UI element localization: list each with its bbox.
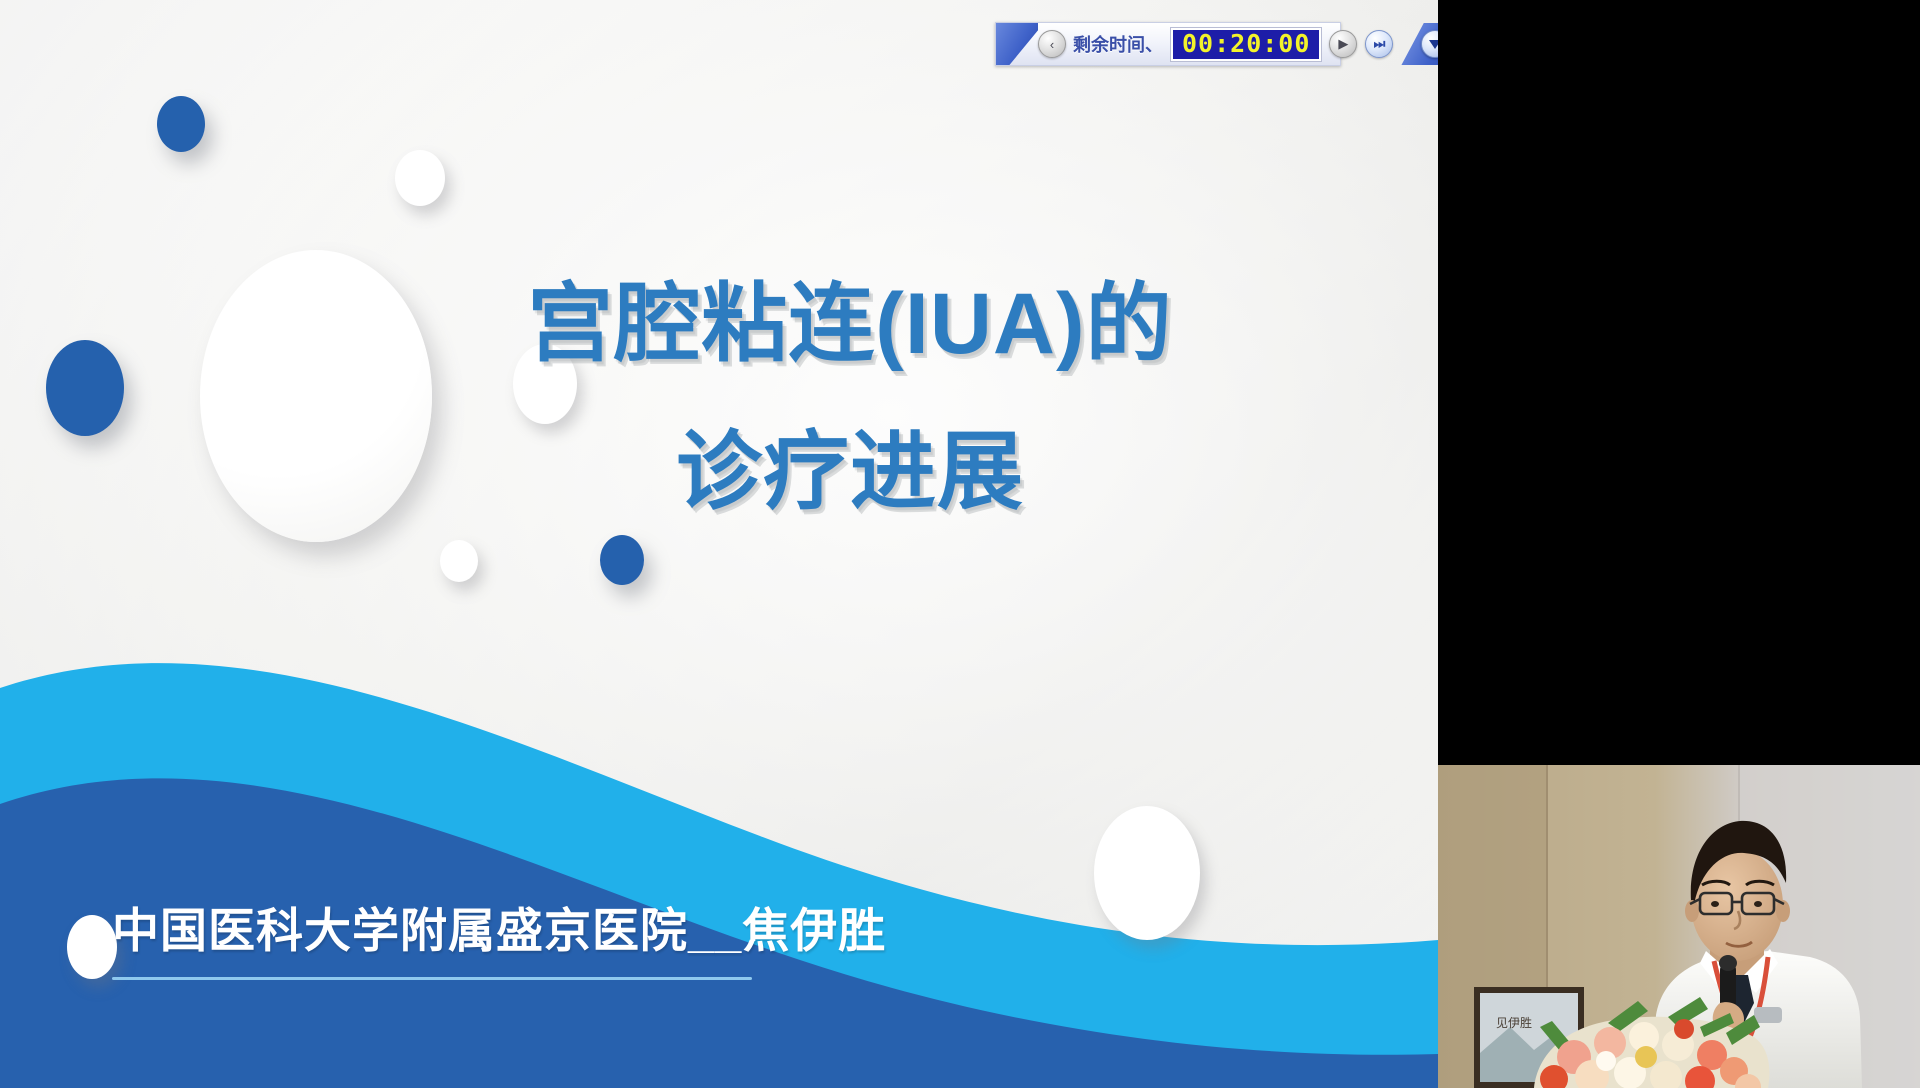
- decorative-bubble-white-a: [395, 150, 445, 206]
- toolbar-right-wedge-decoration: [1401, 23, 1438, 65]
- presenter-block: 中国医科大学附属盛京医院__焦伊胜: [112, 892, 872, 980]
- presenter-underline: [112, 977, 752, 980]
- presentation-slide[interactable]: 宫腔粘连(IUA)的 诊疗进展 中国医科大学附属盛京医院__焦伊胜 ‹ 剩余时间…: [0, 0, 1438, 1088]
- decorative-bubble-blue-top: [157, 96, 205, 152]
- skip-to-end-icon[interactable]: ⏭: [1365, 30, 1393, 58]
- wave-decoration: [0, 568, 1438, 1088]
- countdown-timer-toolbar[interactable]: ‹ 剩余时间、 00:20:00 ▶ ⏭: [995, 22, 1341, 66]
- timer-transport-controls: ▶ ⏭: [1321, 30, 1401, 58]
- decorative-bubble-white-wave: [1094, 806, 1200, 940]
- empty-black-panel: [1438, 0, 1920, 765]
- back-icon[interactable]: ‹: [1038, 30, 1066, 58]
- screen-root: 宫腔粘连(IUA)的 诊疗进展 中国医科大学附属盛京医院__焦伊胜 ‹ 剩余时间…: [0, 0, 1920, 1088]
- play-icon[interactable]: ▶: [1329, 30, 1357, 58]
- chevron-down-icon: [1429, 40, 1438, 49]
- decorative-bubble-white-large: [200, 250, 432, 542]
- time-remaining-readout: 00:20:00: [1171, 28, 1321, 61]
- svg-text:见伊胜: 见伊胜: [1496, 1015, 1532, 1030]
- speaker-video-feed[interactable]: 见伊胜: [1438, 765, 1920, 1088]
- slide-title-line-2: 诊疗进展: [520, 416, 1180, 530]
- decorative-bubble-blue-left: [46, 340, 124, 436]
- slide-title-line-1: 宫腔粘连(IUA)的: [520, 268, 1180, 382]
- slide-title-block: 宫腔粘连(IUA)的 诊疗进展: [520, 268, 1180, 529]
- presenter-affiliation-and-name: 中国医科大学附属盛京医院__焦伊胜: [112, 892, 872, 961]
- timer-label: 剩余时间、: [1073, 31, 1163, 57]
- decorative-bubble-white-bottom: [67, 915, 117, 979]
- previous-slide-icon[interactable]: [1421, 30, 1438, 58]
- toolbar-left-wedge-decoration: [996, 23, 1038, 65]
- speaker-video-frame: 见伊胜: [1438, 765, 1920, 1088]
